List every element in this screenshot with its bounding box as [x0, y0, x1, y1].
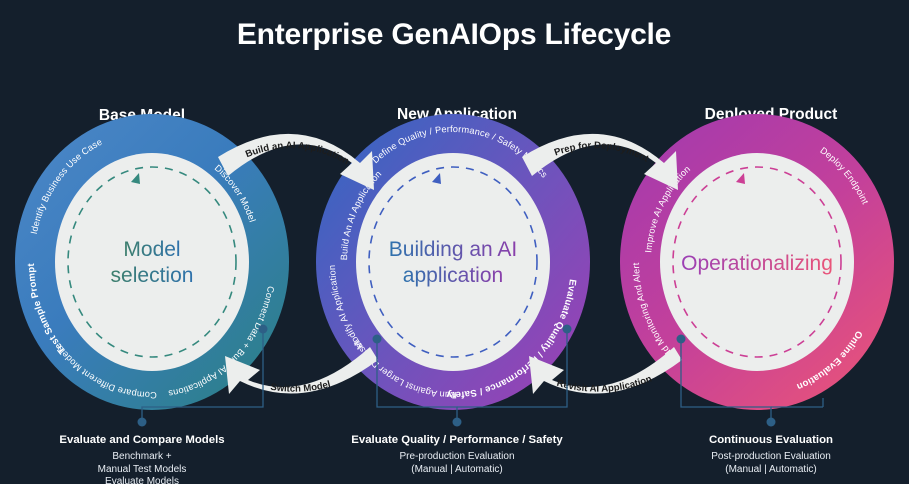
footnote-line-3-0: Post-production Evaluation [711, 451, 831, 462]
ring-inner-fill-new-application [356, 153, 550, 371]
connector-dot-3b [767, 418, 776, 427]
connector-dot-1a [259, 325, 268, 334]
core-label-model-line2: selection [111, 264, 194, 287]
core-label-operationalizing: Operationalizing [681, 252, 833, 275]
connector-dot-3a [677, 335, 686, 344]
footnote-line-3-1: (Manual | Automatic) [725, 464, 817, 475]
footnote-line-2-0: Pre-production Evaluation [399, 451, 514, 462]
connector-dot-2b [563, 325, 572, 334]
core-label-building-line2: application [403, 264, 503, 287]
footnote-continuous-evaluation: Continuous Evaluation Post-production Ev… [709, 434, 833, 475]
footnote-line-2-1: (Manual | Automatic) [411, 464, 503, 475]
footnote-heading-2: Evaluate Quality / Performance / Safety [351, 434, 563, 446]
footnote-heading-3: Continuous Evaluation [709, 434, 833, 446]
genaiops-lifecycle-diagram: Enterprise GenAIOps Lifecycle Base Model… [0, 0, 909, 484]
diagram-canvas: Enterprise GenAIOps Lifecycle Base Model… [0, 0, 909, 484]
footnote-heading-1: Evaluate and Compare Models [59, 434, 224, 446]
connector-dot-2a [373, 335, 382, 344]
core-label-building-line1: Building an AI [389, 238, 517, 261]
footnote-line-1-0: Benchmark + [112, 451, 171, 462]
connector-dot-1b [138, 418, 147, 427]
footnote-line-1-2: Evaluate Models [105, 476, 179, 484]
connector-dot-2c [453, 418, 462, 427]
footnote-line-1-1: Manual Test Models [98, 464, 187, 475]
core-label-model-line1: Model [123, 238, 180, 261]
page-title: Enterprise GenAIOps Lifecycle [237, 18, 671, 51]
ring-inner-fill-base-model [55, 153, 249, 371]
